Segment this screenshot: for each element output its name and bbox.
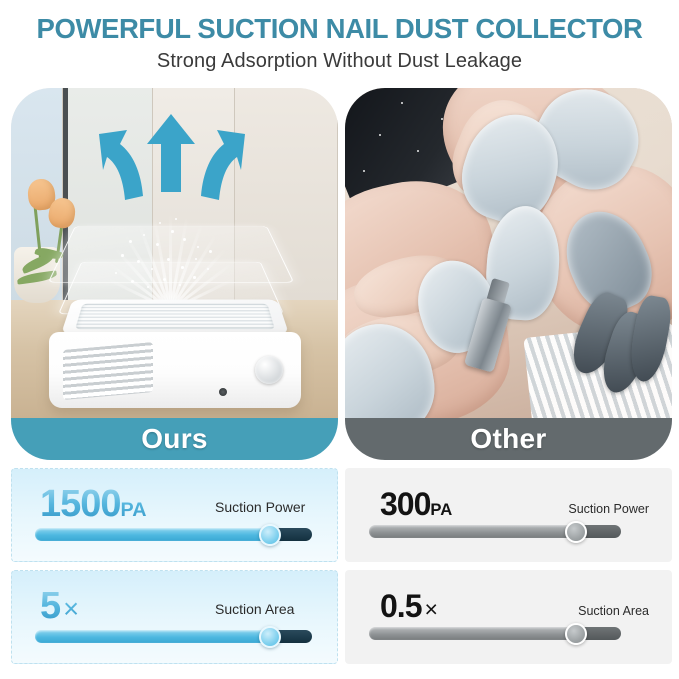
dust-particle (183, 238, 186, 241)
page-title: POWERFUL SUCTION NAIL DUST COLLECTOR (0, 13, 679, 45)
dust-particle (156, 243, 159, 246)
photo-ours (11, 88, 338, 418)
label-other-text: Other (470, 423, 546, 455)
slider-track-filled (35, 528, 270, 541)
dust-particle (181, 266, 184, 269)
slider-handle[interactable] (259, 524, 281, 546)
dust-speck (379, 134, 381, 136)
dust-collector-scene (11, 88, 338, 418)
dust-speck (417, 150, 419, 152)
value-number: 0.5 (380, 588, 421, 624)
dust-particle (163, 278, 166, 281)
dust-particle (115, 272, 117, 274)
dust-particle (147, 286, 149, 288)
label-bar-ours: Ours (11, 418, 338, 460)
dust-particle (131, 280, 134, 283)
airflow-arrow-right (193, 130, 251, 202)
slider-other-power[interactable] (369, 525, 621, 538)
slider-track-filled (35, 630, 270, 643)
grill-slats (75, 304, 275, 329)
spec-value-ours-power: 1500PA (40, 483, 147, 526)
header: POWERFUL SUCTION NAIL DUST COLLECTOR Str… (0, 0, 679, 86)
dust-particle (167, 258, 170, 261)
airflow-arrow-center (145, 114, 197, 192)
dust-particle (209, 250, 212, 253)
dust-particle (171, 230, 174, 233)
slider-track-filled (369, 525, 576, 538)
filter-plane-upper (48, 226, 295, 282)
spec-card-ours-suction-power: 1500PA Suction Power (11, 468, 338, 562)
value-number: 1500 (40, 483, 121, 525)
device-top-grill (61, 299, 289, 334)
dusty-hands-scene (345, 88, 672, 418)
slider-handle[interactable] (565, 521, 587, 543)
spec-card-other-suction-area: 0.5× Suction Area (345, 570, 672, 664)
dust-particle (137, 260, 140, 263)
photo-other (345, 88, 672, 418)
label-ours-text: Ours (141, 423, 208, 455)
slider-ours-area[interactable] (35, 630, 312, 643)
power-knob (255, 356, 283, 384)
spec-value-other-area: 0.5× (380, 588, 438, 625)
airflow-arrow-left (93, 130, 151, 202)
slider-ours-power[interactable] (35, 528, 312, 541)
page-subtitle: Strong Adsorption Without Dust Leakage (0, 50, 679, 73)
slider-handle[interactable] (565, 623, 587, 645)
dust-particle (207, 268, 209, 270)
dust-particle (151, 268, 153, 270)
dust-particle (197, 246, 199, 248)
nail-dust-collector-device (49, 290, 301, 408)
value-number: 300 (380, 486, 430, 522)
spec-cards: 1500PA Suction Power 5× Suction Area (0, 468, 679, 679)
dust-speck (363, 170, 365, 172)
power-port (219, 388, 227, 396)
spec-card-ours-suction-area: 5× Suction Area (11, 570, 338, 664)
value-unit: PA (121, 499, 147, 521)
slider-track-filled (369, 627, 576, 640)
spec-label-ours-power: Suction Power (215, 499, 305, 515)
spec-label-ours-area: Suction Area (215, 601, 294, 617)
dust-particle (195, 258, 197, 260)
value-unit: × (60, 593, 79, 624)
spec-label-other-power: Suction Power (568, 502, 649, 516)
panel-ours: Ours (11, 88, 338, 460)
dust-particle (193, 276, 196, 279)
spec-card-other-suction-power: 300PA Suction Power (345, 468, 672, 562)
side-vents (63, 342, 153, 400)
value-unit: × (421, 596, 437, 622)
product-infographic: POWERFUL SUCTION NAIL DUST COLLECTOR Str… (0, 0, 679, 679)
value-unit: PA (430, 500, 452, 519)
spec-value-ours-area: 5× (40, 585, 79, 628)
dust-speck (441, 118, 443, 120)
dust-speck (401, 102, 403, 104)
value-number: 5 (40, 585, 60, 627)
slider-handle[interactable] (259, 626, 281, 648)
dust-particle (179, 284, 181, 286)
dust-particle (159, 222, 161, 224)
spec-value-other-power: 300PA (380, 486, 452, 523)
label-bar-other: Other (345, 418, 672, 460)
panel-other: Other (345, 88, 672, 460)
spec-label-other-area: Suction Area (578, 604, 649, 618)
dust-particle (121, 254, 124, 257)
slider-other-area[interactable] (369, 627, 621, 640)
comparison-panels: Ours (0, 88, 679, 460)
device-body (49, 332, 301, 408)
dust-particle (129, 240, 132, 243)
dust-particle (143, 234, 145, 236)
dust-particle (175, 218, 177, 220)
